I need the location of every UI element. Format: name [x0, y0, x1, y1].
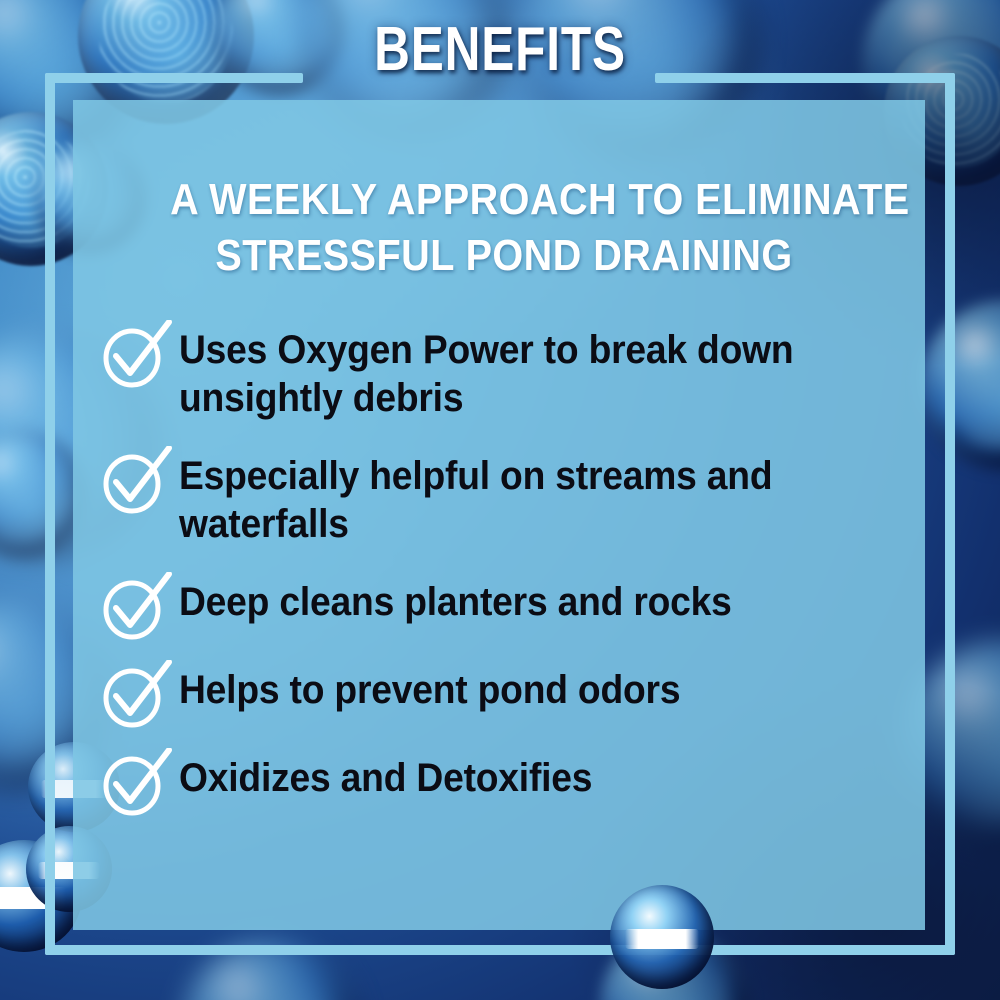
list-item-label: Helps to prevent pond odors [179, 662, 680, 714]
benefits-poster: BENEFITS A WEEKLY APPROACH TO ELIMINATE … [0, 0, 1000, 1000]
page-title: BENEFITS [100, 19, 900, 81]
list-item: Helps to prevent pond odors [99, 662, 905, 730]
list-item-label: Uses Oxygen Power to break down unsightl… [179, 322, 854, 422]
list-item: Deep cleans planters and rocks [99, 574, 905, 642]
check-circle-icon [99, 748, 173, 818]
list-item-label: Deep cleans planters and rocks [179, 574, 732, 626]
list-item: Oxidizes and Detoxifies [99, 750, 905, 818]
check-circle-icon [99, 660, 173, 730]
foreground-water-droplet [610, 885, 714, 989]
benefits-list: Uses Oxygen Power to break down unsightl… [99, 322, 905, 838]
subtitle-line-1: A WEEKLY APPROACH TO ELIMINATE [170, 172, 838, 228]
panel-subtitle: A WEEKLY APPROACH TO ELIMINATE STRESSFUL… [170, 172, 838, 284]
frame-left-segment [45, 73, 55, 955]
list-item: Especially helpful on streams and waterf… [99, 448, 905, 548]
list-item-label: Especially helpful on streams and waterf… [179, 448, 854, 548]
subtitle-line-2: STRESSFUL POND DRAINING [170, 228, 838, 284]
frame-right-segment [945, 73, 955, 955]
check-circle-icon [99, 320, 173, 390]
check-circle-icon [99, 446, 173, 516]
droplet-highlight [625, 929, 700, 950]
frame-bottom-segment [45, 945, 955, 955]
content-panel: A WEEKLY APPROACH TO ELIMINATE STRESSFUL… [73, 100, 925, 930]
list-item-label: Oxidizes and Detoxifies [179, 750, 592, 802]
list-item: Uses Oxygen Power to break down unsightl… [99, 322, 905, 422]
check-circle-icon [99, 572, 173, 642]
